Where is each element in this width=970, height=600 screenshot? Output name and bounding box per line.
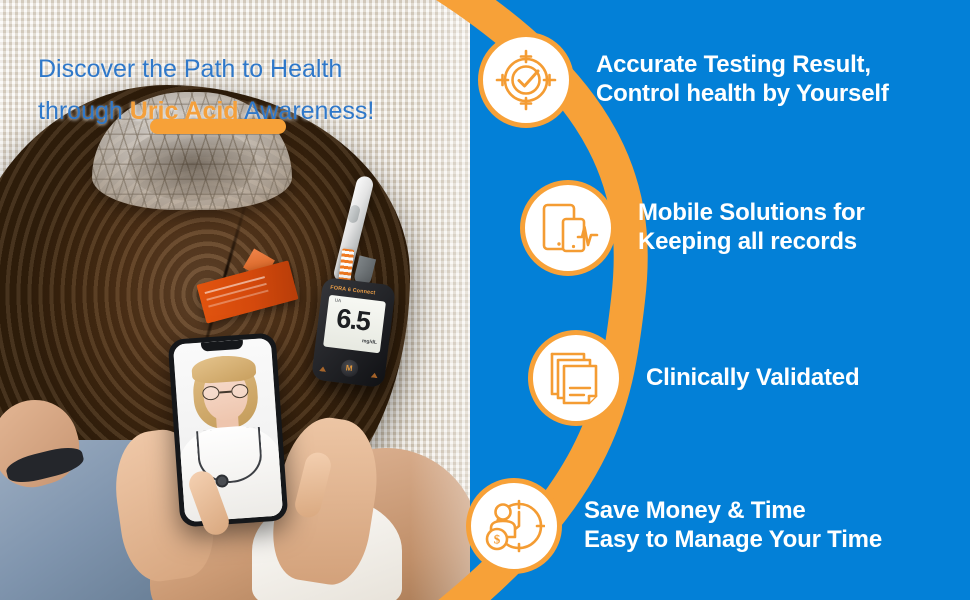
tablet-phone-pulse-icon: [537, 197, 599, 259]
feature-text-line-1: Save Money & Time: [584, 497, 806, 524]
feature-text-line-2: Keeping all records: [638, 228, 865, 257]
promo-banner: FORA 6 Connect UA 6.5 mg/dL M: [0, 0, 970, 600]
feature-item-clinically-validated: Clinically Validated: [528, 330, 859, 426]
svg-text:$: $: [494, 532, 501, 547]
feature-text-line-1: Clinically Validated: [646, 364, 859, 391]
feature-text-line-2: Easy to Manage Your Time: [584, 526, 882, 555]
feature-icon-badge: [528, 330, 624, 426]
headline-line-2-prefix: through: [38, 97, 130, 125]
headline-line-1: Discover the Path to Health: [38, 48, 468, 90]
feature-item-accurate-testing: Accurate Testing Result, Control health …: [478, 32, 889, 128]
feature-text: Mobile Solutions for Keeping all records: [638, 199, 865, 257]
feature-item-save-money-time: $ Save Money & Time Easy to Manage Your …: [466, 478, 882, 574]
feature-icon-badge: $: [466, 478, 562, 574]
target-checkmark-icon: [495, 49, 557, 111]
headline-underline-bar: [150, 119, 286, 134]
feature-text: Accurate Testing Result, Control health …: [596, 51, 889, 109]
feature-text: Clinically Validated: [646, 364, 859, 393]
person-money-clock-icon: $: [483, 495, 545, 557]
feature-item-mobile-solutions: Mobile Solutions for Keeping all records: [520, 180, 865, 276]
feature-text-line-1: Mobile Solutions for: [638, 199, 865, 226]
documents-stack-icon: [546, 348, 606, 408]
feature-text: Save Money & Time Easy to Manage Your Ti…: [584, 497, 882, 555]
feature-text-line-1: Accurate Testing Result,: [596, 51, 871, 78]
feature-text-line-2: Control health by Yourself: [596, 80, 889, 109]
feature-icon-badge: [478, 32, 574, 128]
feature-icon-badge: [520, 180, 616, 276]
headline: Discover the Path to Health through Uric…: [38, 48, 468, 132]
